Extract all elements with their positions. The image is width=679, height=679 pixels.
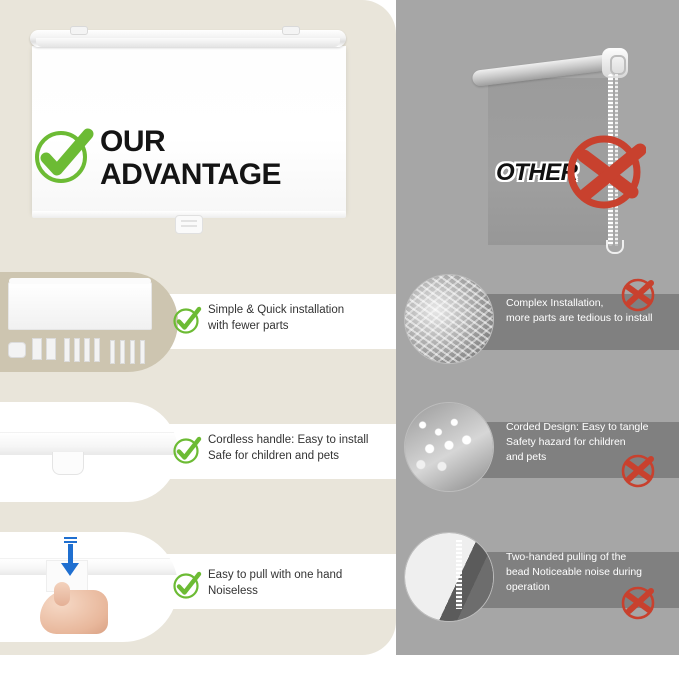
chain-loop-icon <box>606 240 624 254</box>
feature-text: Cordless handle: Easy to install Safe fo… <box>208 432 368 464</box>
red-x-icon <box>619 452 657 495</box>
green-check-icon <box>172 570 202 605</box>
blind-bar-icon <box>0 558 178 575</box>
green-check-icon <box>172 305 202 340</box>
other-badge: OTHER <box>496 128 646 217</box>
list-item: Easy to pull with one hand Noiseless <box>0 532 396 642</box>
feature-text: Simple & Quick installation with fewer p… <box>208 302 344 334</box>
green-check-icon <box>172 435 202 470</box>
feature-thumbnail <box>404 402 494 492</box>
list-item: Simple & Quick installation with fewer p… <box>0 272 396 372</box>
parts-group-icon <box>8 334 168 364</box>
red-x-icon <box>619 584 657 627</box>
page-title: OUR ADVANTAGE <box>100 125 281 191</box>
green-check-circle-icon <box>32 124 94 191</box>
cordless-handle-icon <box>0 432 178 455</box>
feature-thumbnail <box>0 272 178 372</box>
feature-thumbnail <box>404 274 494 364</box>
blind-pull-tab <box>175 215 203 234</box>
red-x-icon <box>619 276 657 319</box>
list-item: Corded Design: Easy to tangle Safety haz… <box>396 398 679 522</box>
bracket-right-icon <box>282 26 300 35</box>
list-item: Two-handed pulling of the bead Noticeabl… <box>396 528 679 652</box>
other-hero: OTHER <box>396 0 679 262</box>
feature-thumbnail <box>0 402 178 502</box>
advantage-badge: OUR ADVANTAGE <box>32 124 281 191</box>
blind-headrail <box>30 30 346 47</box>
feature-text: Easy to pull with one hand Noiseless <box>208 567 342 599</box>
list-item: Complex Installation, more parts are ted… <box>396 270 679 394</box>
red-x-circle-icon <box>562 128 646 217</box>
bottom-margin <box>0 655 679 679</box>
feature-thumbnail <box>404 532 494 622</box>
bracket-left-icon <box>70 26 88 35</box>
advantage-hero: OUR ADVANTAGE <box>18 28 358 228</box>
feature-thumbnail <box>0 532 178 642</box>
blind-thumb-icon <box>8 282 152 330</box>
handle-knob-icon <box>52 452 84 475</box>
comparison-infographic: OUR ADVANTAGE <box>0 0 679 679</box>
our-advantage-panel: OUR ADVANTAGE <box>0 0 396 655</box>
list-item: Cordless handle: Easy to install Safe fo… <box>0 402 396 502</box>
other-panel: OTHER Complex Installation, more parts a… <box>396 0 679 655</box>
hand-icon <box>40 590 108 634</box>
